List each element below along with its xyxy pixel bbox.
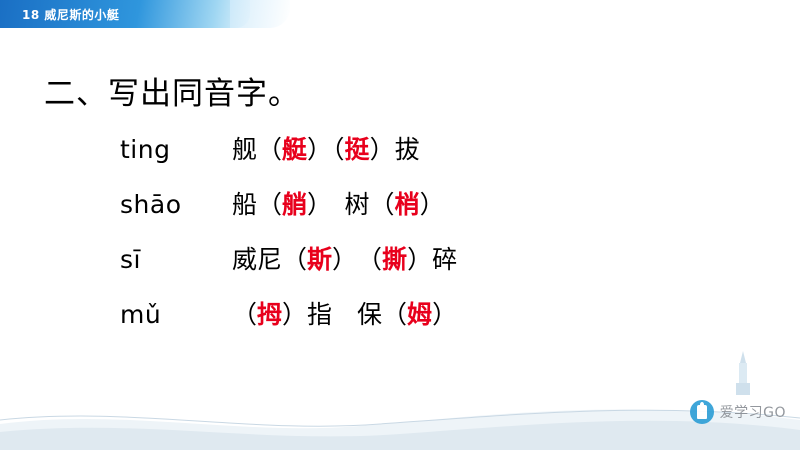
page-title: 二、写出同音字。 [44, 68, 300, 113]
prompt-text: ）碎 [407, 245, 457, 274]
answer-char: 姆 [407, 300, 432, 329]
pinyin-label: shāo [120, 190, 232, 219]
exercise-content: （拇）指 保（姆） [232, 295, 457, 331]
prompt-text: ） [420, 190, 445, 219]
prompt-text: ） （ [332, 245, 382, 274]
exercise-row: ting 舰（艇）（挺）拔 [120, 130, 740, 185]
prompt-text: ）指 保（ [282, 300, 407, 329]
answer-char: 艄 [282, 190, 307, 219]
exercise-row: shāo 船（艄） 树（梢） [120, 185, 740, 240]
pinyin-label: sī [120, 245, 232, 274]
answer-char: 挺 [345, 135, 370, 164]
prompt-text: ）拔 [370, 135, 420, 164]
prompt-text: ）（ [307, 135, 345, 164]
prompt-text: 船（ [232, 190, 282, 219]
exercise-list: ting 舰（艇）（挺）拔 shāo 船（艄） 树（梢） sī 威尼（斯） （撕… [120, 130, 740, 350]
wave-decoration [0, 390, 800, 450]
watermark: 爱学习GO [690, 400, 786, 424]
answer-char: 斯 [307, 245, 332, 274]
answer-char: 梢 [395, 190, 420, 219]
answer-char: 拇 [257, 300, 282, 329]
exercise-content: 船（艄） 树（梢） [232, 185, 445, 221]
pinyin-label: mǔ [120, 300, 232, 329]
prompt-text: （ [232, 300, 257, 329]
tower-icon [730, 351, 756, 395]
prompt-text: ） [432, 300, 457, 329]
watermark-text: 爱学习GO [720, 402, 786, 422]
header-title: 18 威尼斯的小艇 [22, 6, 119, 23]
answer-char: 艇 [282, 135, 307, 164]
pinyin-label: ting [120, 135, 232, 164]
rocket-icon [690, 400, 714, 424]
exercise-row: mǔ （拇）指 保（姆） [120, 295, 740, 350]
exercise-row: sī 威尼（斯） （撕）碎 [120, 240, 740, 295]
prompt-text: ） 树（ [307, 190, 395, 219]
answer-char: 撕 [382, 245, 407, 274]
prompt-text: 舰（ [232, 135, 282, 164]
exercise-content: 舰（艇）（挺）拔 [232, 130, 420, 166]
prompt-text: 威尼（ [232, 245, 307, 274]
exercise-content: 威尼（斯） （撕）碎 [232, 240, 457, 276]
slide: 18 威尼斯的小艇 二、写出同音字。 ting 舰（艇）（挺）拔 shāo 船（… [0, 0, 800, 450]
